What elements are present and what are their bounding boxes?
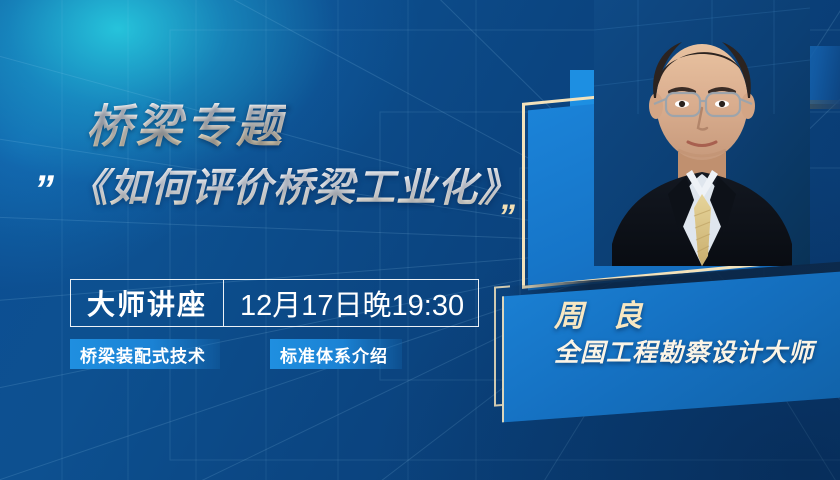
lecture-info-bar: 大师讲座 12月17日晚19:30 bbox=[70, 279, 479, 327]
topic-chip: 桥梁装配式技术 bbox=[70, 339, 220, 369]
subtitle-text: 《如何评价桥梁工业化》 bbox=[68, 168, 519, 208]
speaker-title: 全国工程勘察设计大师 bbox=[554, 341, 840, 366]
event-poster: 桥梁专题 桥梁专题 ” 《如何评价桥梁工业化》 ” 大师讲座 12月17日晚19… bbox=[0, 0, 840, 480]
subtitle-row: ” 《如何评价桥梁工业化》 ” bbox=[34, 172, 534, 244]
topic-chip: 标准体系介绍 bbox=[270, 339, 402, 369]
speaker-nameplate: 周 良 全国工程勘察设计大师 bbox=[502, 272, 840, 423]
speaker-portrait bbox=[594, 0, 810, 266]
lecture-type-label: 大师讲座 bbox=[71, 280, 224, 326]
quote-open-icon: ” bbox=[34, 170, 52, 210]
topic-chip-list: 桥梁装配式技术 标准体系介绍 bbox=[70, 339, 402, 369]
lecture-datetime: 12月17日晚19:30 bbox=[224, 280, 478, 326]
speaker-nameplate-wrapper: 周 良 全国工程勘察设计大师 bbox=[494, 268, 840, 418]
speaker-name: 周 良 bbox=[554, 302, 840, 332]
page-title: 桥梁专题 bbox=[86, 103, 286, 149]
